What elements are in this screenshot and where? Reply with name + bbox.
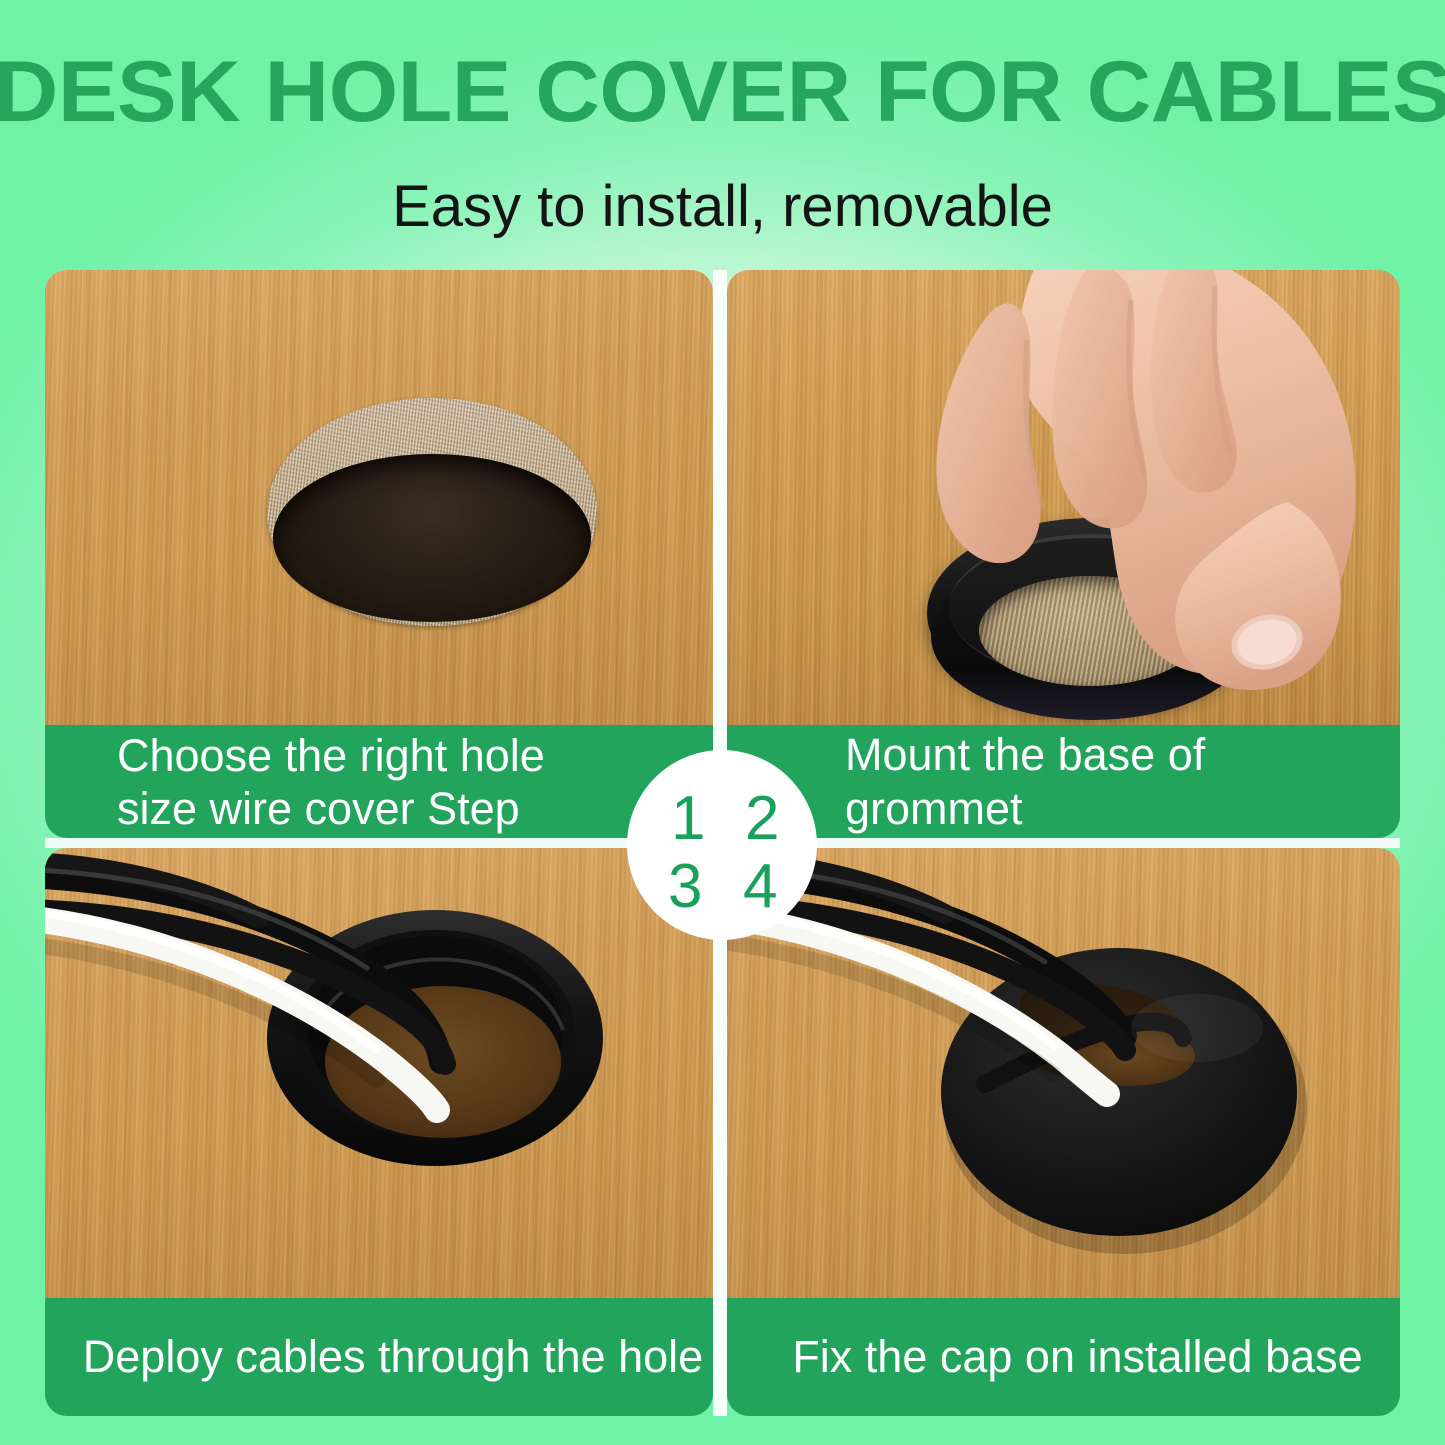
infographic-canvas: DESK HOLE COVER FOR CABLES Easy to insta… bbox=[0, 0, 1445, 1445]
hand-icon bbox=[727, 270, 1400, 725]
step-3-photo bbox=[45, 848, 713, 1298]
step-number-badge: 1 2 3 4 bbox=[627, 750, 817, 940]
step-number-4: 4 bbox=[743, 856, 777, 918]
step-1-caption: Choose the right hole size wire cover St… bbox=[45, 725, 713, 838]
step-3-caption-text: Deploy cables through the hole bbox=[83, 1330, 703, 1384]
hole-interior bbox=[273, 454, 591, 622]
step-1-caption-line-1: Choose the right hole bbox=[117, 729, 545, 782]
step-4-photo bbox=[727, 848, 1400, 1298]
step-number-1: 1 bbox=[671, 788, 705, 850]
step-1-photo bbox=[45, 270, 713, 725]
step-4-caption-text: Fix the cap on installed base bbox=[792, 1330, 1362, 1384]
step-2-artwork bbox=[727, 270, 1400, 725]
step-2-caption-text: Mount the base of grommet bbox=[845, 728, 1386, 836]
step-4-caption: Fix the cap on installed base bbox=[727, 1298, 1400, 1416]
step-number-3: 3 bbox=[668, 856, 702, 918]
step-3-artwork bbox=[45, 848, 713, 1298]
step-number-2: 2 bbox=[745, 788, 779, 850]
step-3-caption: Deploy cables through the hole bbox=[45, 1298, 713, 1416]
drilled-hole bbox=[267, 398, 597, 626]
step-panel-2: Mount the base of grommet bbox=[727, 270, 1400, 838]
step-panel-1: Choose the right hole size wire cover St… bbox=[45, 270, 713, 838]
page-title: DESK HOLE COVER FOR CABLES bbox=[0, 46, 1445, 138]
step-panel-3: Deploy cables through the hole bbox=[45, 848, 713, 1416]
step-2-photo bbox=[727, 270, 1400, 725]
step-2-caption: Mount the base of grommet bbox=[727, 725, 1400, 838]
step-panel-4: Fix the cap on installed base bbox=[727, 848, 1400, 1416]
step-4-artwork bbox=[727, 848, 1400, 1298]
step-1-caption-line-2: size wire cover Step bbox=[117, 782, 545, 835]
page-subtitle: Easy to install, removable bbox=[0, 176, 1445, 238]
